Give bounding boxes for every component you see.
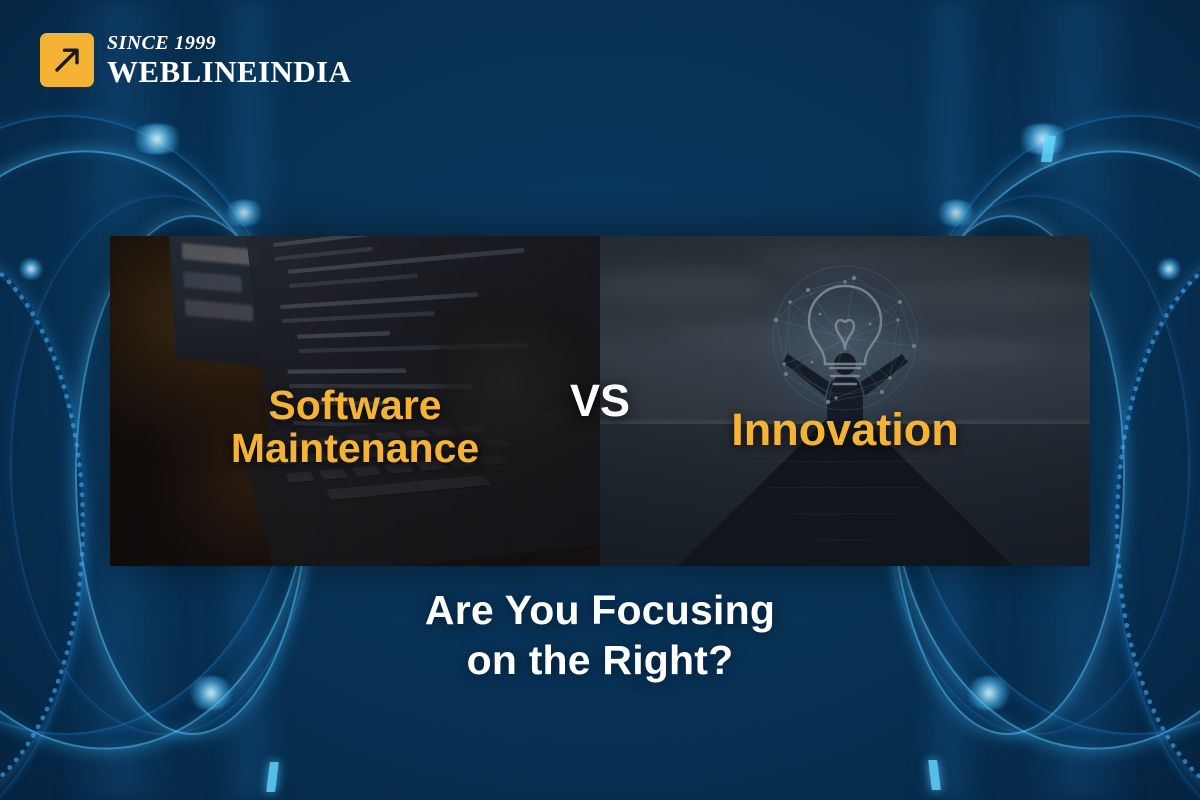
brand-tagline: SINCE 1999	[107, 33, 351, 53]
headline: Are You Focusing on the Right?	[0, 585, 1200, 685]
brand-wordmark: SINCE 1999 WEBLINEINDIA	[107, 33, 351, 87]
glow-spark-icon	[1156, 258, 1182, 280]
headline-line-1: Are You Focusing	[425, 587, 775, 633]
panel-innovation: Innovation	[600, 236, 1090, 566]
headline-line-2: on the Right?	[0, 635, 1200, 685]
panel-software-maintenance: Software Maintenance	[110, 236, 600, 566]
glow-tick-icon	[928, 760, 941, 790]
glow-spark-icon	[222, 200, 266, 226]
glow-tick-icon	[266, 762, 279, 792]
poster-canvas: SINCE 1999 WEBLINEINDIA	[0, 0, 1200, 800]
comparison-banner: Software Maintenance	[110, 236, 1090, 566]
dotted-glow-arc-icon	[1115, 245, 1200, 800]
brand-name: WEBLINEINDIA	[107, 56, 351, 87]
glow-ring-icon	[0, 235, 85, 800]
glow-tick-icon	[1041, 136, 1056, 162]
dotted-glow-arc-icon	[0, 245, 85, 800]
brand-logo[interactable]: SINCE 1999 WEBLINEINDIA	[40, 33, 351, 87]
label-innovation: Innovation	[600, 406, 1090, 454]
glow-spark-icon	[934, 200, 978, 226]
glow-spark-icon	[18, 258, 44, 280]
label-software-maintenance: Software Maintenance	[110, 384, 600, 471]
arrow-up-right-icon	[40, 33, 94, 87]
label-line-2: Maintenance	[231, 425, 479, 471]
panel-overlay	[600, 236, 1090, 566]
glow-spark-icon	[1014, 124, 1072, 154]
label-line-1: Software	[268, 382, 441, 428]
vs-divider-label: VS	[570, 375, 630, 427]
glow-ring-icon	[1115, 235, 1200, 800]
glow-spark-icon	[128, 124, 186, 154]
